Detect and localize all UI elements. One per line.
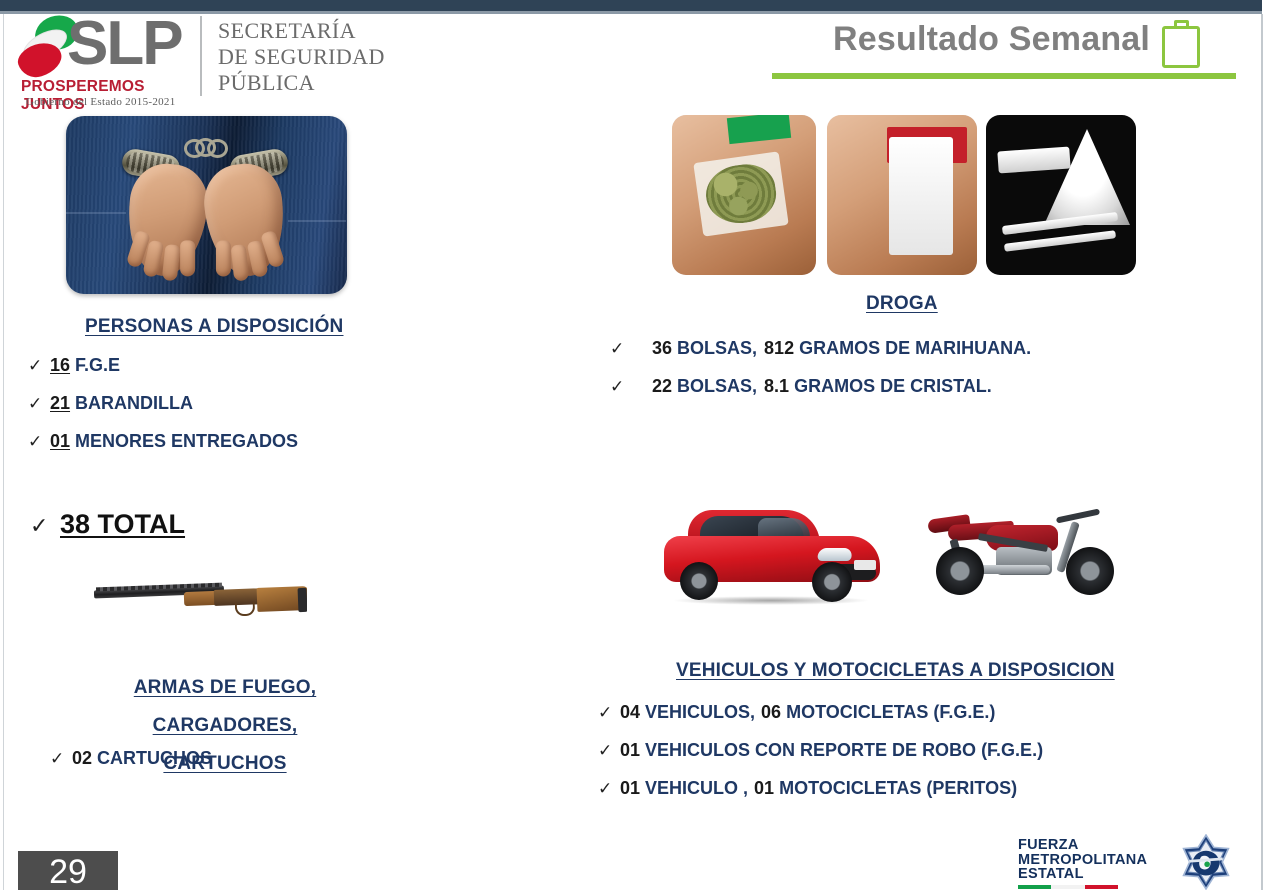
fme-name: FUERZA METROPOLITANA ESTATAL xyxy=(1018,838,1147,882)
personas-label-3: MENORES ENTREGADOS xyxy=(75,431,298,452)
page-title: Resultado Semanal xyxy=(833,20,1150,59)
handcuff-chain xyxy=(184,138,228,154)
list-item-personas-3: ✓ 01 MENORES ENTREGADOS xyxy=(28,431,298,452)
slp-initials: SLP xyxy=(67,8,182,79)
droga-label-2b: GRAMOS DE CRISTAL. xyxy=(794,376,992,397)
department-line-2: DE SEGURIDAD xyxy=(218,44,385,70)
list-item-vehiculos-3: ✓ 01 VEHICULO , 01 MOTOCICLETAS (PERITOS… xyxy=(598,778,1017,799)
check-icon: ✓ xyxy=(28,394,50,414)
droga-count-2a: 22 xyxy=(652,376,672,397)
clipboard-icon xyxy=(1162,20,1204,68)
header-divider xyxy=(200,16,202,96)
page-number-badge: 29 xyxy=(18,851,118,890)
personas-label-2: BARANDILLA xyxy=(75,393,193,414)
slide-left-edge xyxy=(3,14,4,890)
personas-count-1: 16 xyxy=(50,355,70,376)
droga-count-1a: 36 xyxy=(652,338,672,359)
vehiculos-label-1a: VEHICULOS, xyxy=(645,702,755,723)
heading-armas-line-1: ARMAS DE FUEGO, CARGADORES, xyxy=(134,677,316,736)
fme-line-1: FUERZA xyxy=(1018,838,1147,853)
droga-label-1b: GRAMOS DE MARIHUANA. xyxy=(799,338,1031,359)
armas-count-1: 02 xyxy=(72,748,92,769)
check-icon: ✓ xyxy=(598,779,620,799)
check-icon: ✓ xyxy=(610,377,652,397)
check-icon: ✓ xyxy=(610,339,652,359)
cocaina-photo xyxy=(986,115,1136,275)
fme-line-2: METROPOLITANA xyxy=(1018,853,1147,868)
mexican-flag-stripe xyxy=(1018,885,1118,889)
police-star-badge-icon xyxy=(1178,834,1234,890)
red-car-photo xyxy=(658,500,888,605)
personas-label-1: F.G.E xyxy=(75,355,120,376)
check-icon: ✓ xyxy=(50,749,72,769)
droga-count-2b: 8.1 xyxy=(764,376,789,397)
personas-count-3: 01 xyxy=(50,431,70,452)
heading-droga: DROGA xyxy=(866,293,938,315)
personas-count-2: 21 xyxy=(50,393,70,414)
check-icon: ✓ xyxy=(28,432,50,452)
title-underline-rule xyxy=(772,73,1236,79)
vehiculos-label-3b: MOTOCICLETAS (PERITOS) xyxy=(779,778,1017,799)
slide-canvas: SLP PROSPEREMOS JUNTOS Gobierno del Esta… xyxy=(0,0,1280,890)
check-icon: ✓ xyxy=(598,703,620,723)
check-icon: ✓ xyxy=(598,741,620,761)
vehiculos-label-1b: MOTOCICLETAS (F.G.E.) xyxy=(786,702,995,723)
slp-government-line: Gobierno del Estado 2015-2021 xyxy=(26,96,176,108)
slide-right-edge xyxy=(1261,14,1263,890)
list-item-droga-2: ✓ 22 BOLSAS, 8.1 GRAMOS DE CRISTAL. xyxy=(610,376,992,397)
check-icon: ✓ xyxy=(30,513,60,539)
armas-label-1: CARTUCHOS xyxy=(97,748,212,769)
marihuana-photo xyxy=(672,115,816,275)
vehiculos-count-3b: 01 xyxy=(754,778,774,799)
droga-label-1a: BOLSAS, xyxy=(677,338,757,359)
list-item-armas-1: ✓ 02 CARTUCHOS xyxy=(50,748,212,769)
heading-vehiculos-motocicletas: VEHICULOS Y MOTOCICLETAS A DISPOSICION xyxy=(676,660,1115,682)
vehiculos-count-2a: 01 xyxy=(620,740,640,761)
droga-label-2a: BOLSAS, xyxy=(677,376,757,397)
vehiculos-count-1a: 04 xyxy=(620,702,640,723)
motorcycle-photo xyxy=(914,495,1126,595)
list-item-droga-1: ✓ 36 BOLSAS, 812 GRAMOS DE MARIHUANA. xyxy=(610,338,1031,359)
vehiculos-count-3a: 01 xyxy=(620,778,640,799)
heading-personas-a-disposicion: PERSONAS A DISPOSICIÓN xyxy=(85,316,343,338)
droga-count-1b: 812 xyxy=(764,338,794,359)
list-item-vehiculos-1: ✓ 04 VEHICULOS, 06 MOTOCICLETAS (F.G.E.) xyxy=(598,702,995,723)
window-top-bar xyxy=(0,0,1262,11)
cristal-photo xyxy=(827,115,977,275)
vehiculos-label-3a: VEHICULO , xyxy=(645,778,748,799)
shotgun-photo xyxy=(92,562,307,626)
list-item-vehiculos-2: ✓ 01 VEHICULOS CON REPORTE DE ROBO (F.G.… xyxy=(598,740,1043,761)
fme-line-3: ESTATAL xyxy=(1018,867,1147,882)
vehiculos-count-1b: 06 xyxy=(761,702,781,723)
list-item-personas-2: ✓ 21 BARANDILLA xyxy=(28,393,193,414)
fuerza-metropolitana-logo: FUERZA METROPOLITANA ESTATAL xyxy=(1018,838,1170,886)
slp-logo: SLP PROSPEREMOS JUNTOS Gobierno del Esta… xyxy=(12,12,197,104)
personas-total-row: ✓ 38 TOTAL xyxy=(30,509,185,540)
department-line-1: SECRETARÍA xyxy=(218,18,385,44)
check-icon: ✓ xyxy=(28,356,50,376)
department-name: SECRETARÍA DE SEGURIDAD PÚBLICA xyxy=(218,18,385,96)
handcuffed-hands-photo xyxy=(66,116,347,294)
personas-total-value: 38 TOTAL xyxy=(60,509,185,540)
list-item-personas-1: ✓ 16 F.G.E xyxy=(28,355,120,376)
vehiculos-label-2a: VEHICULOS CON REPORTE DE ROBO (F.G.E.) xyxy=(645,740,1043,761)
department-line-3: PÚBLICA xyxy=(218,70,385,96)
